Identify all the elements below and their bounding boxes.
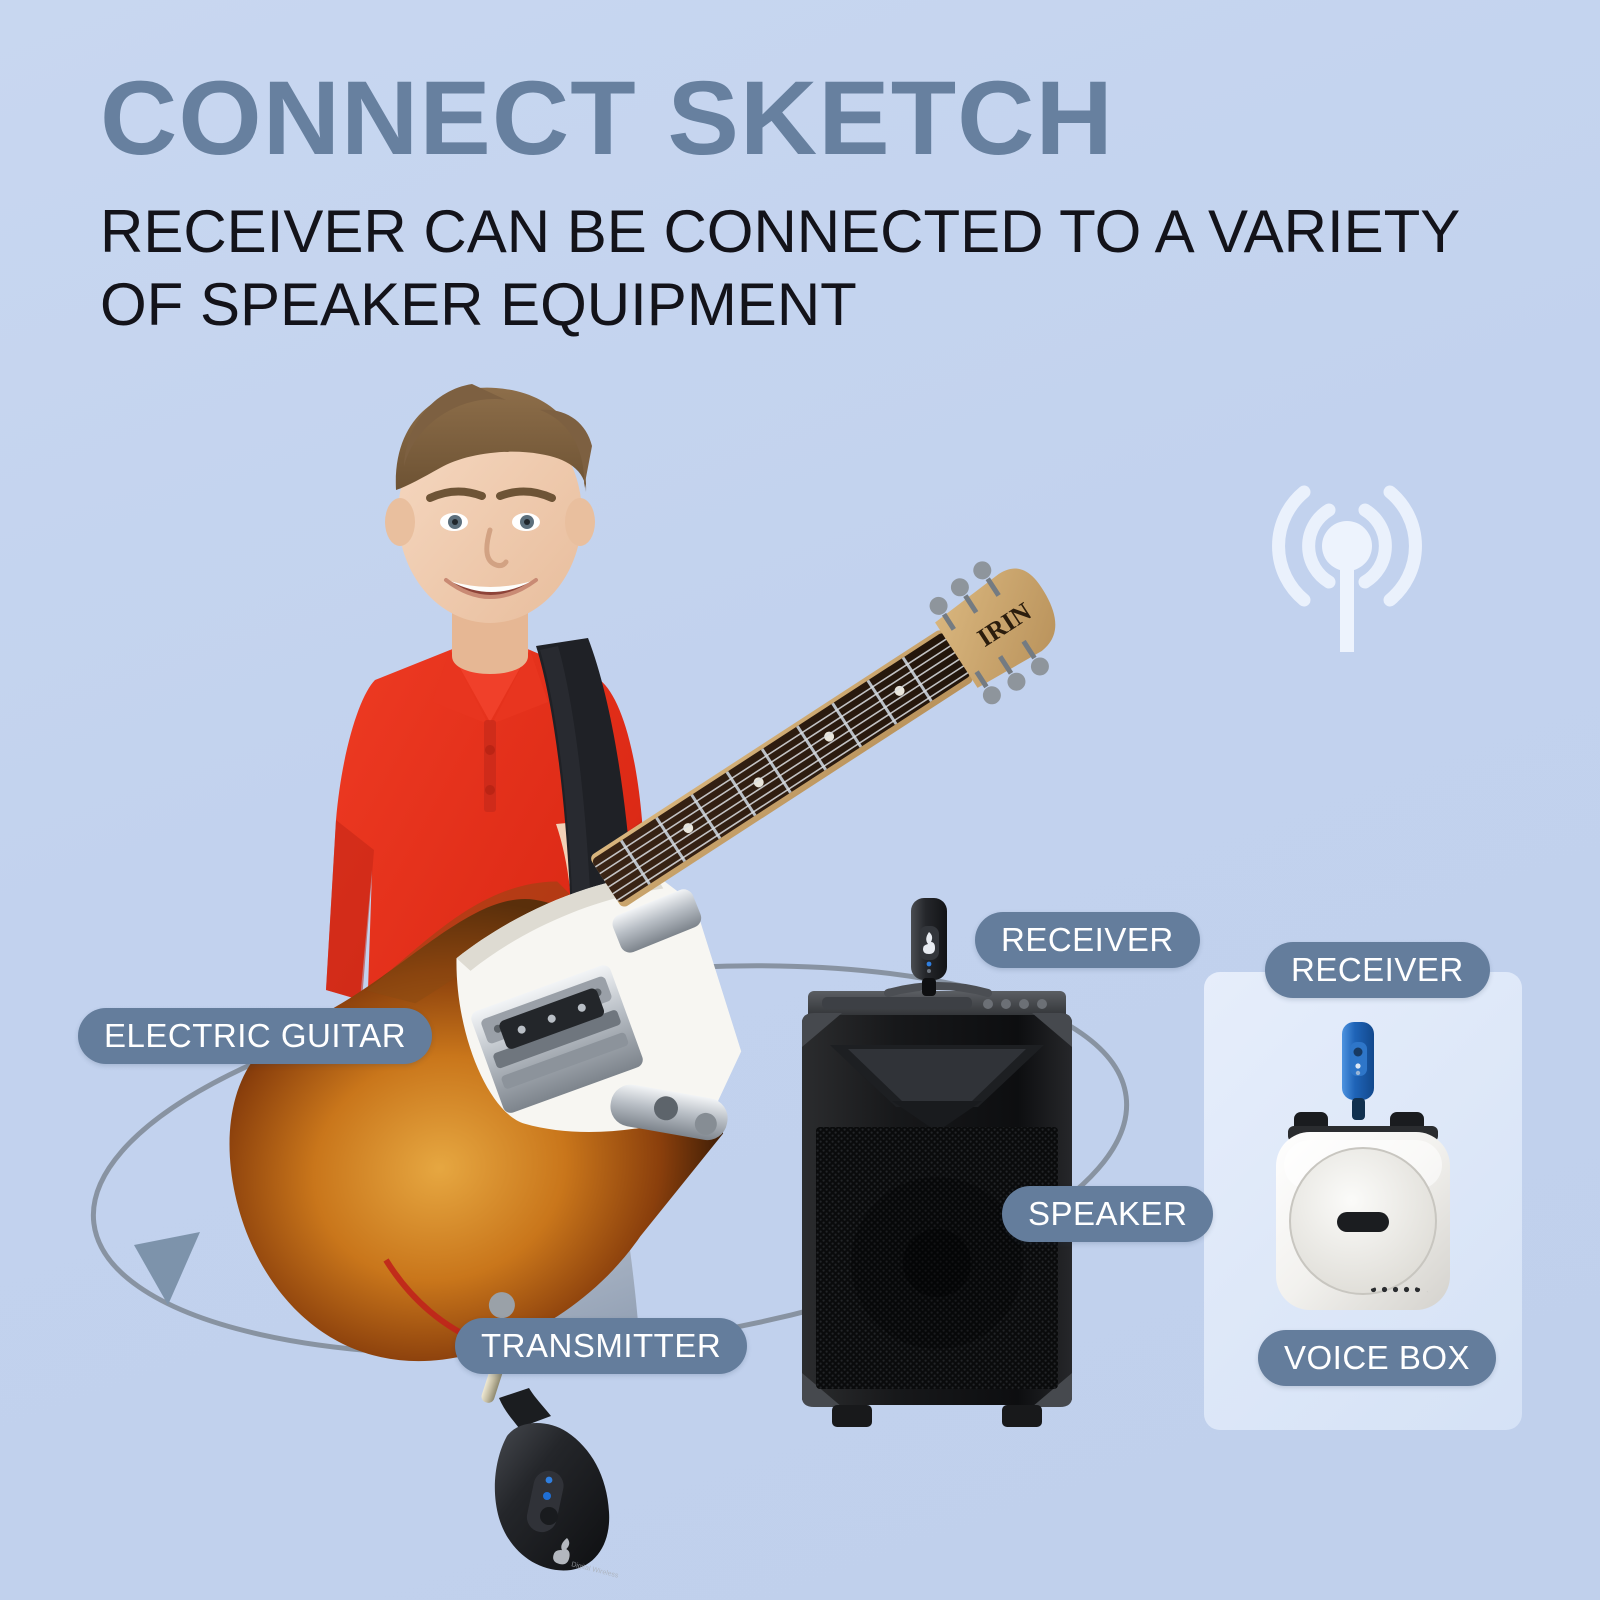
wireless-transmitter: Digital Wireless	[455, 1340, 635, 1600]
label-receiver-voicebox[interactable]: RECEIVER	[1265, 942, 1490, 998]
voice-box-amplifier	[1258, 1020, 1468, 1330]
page-title: CONNECT SKETCH	[100, 66, 1114, 171]
broadcast-signal-icon	[1232, 452, 1462, 652]
label-speaker-text: SPEAKER	[1028, 1195, 1187, 1233]
receiver-dongle-voicebox	[1342, 1022, 1374, 1120]
transmitter-caption: Digital Wireless	[571, 1561, 620, 1580]
label-electric-guitar-text: ELECTRIC GUITAR	[104, 1017, 406, 1055]
page-subtitle: RECEIVER CAN BE CONNECTED TO A VARIETY O…	[100, 195, 1520, 341]
infographic-canvas: CONNECT SKETCH RECEIVER CAN BE CONNECTED…	[0, 0, 1600, 1600]
label-speaker[interactable]: SPEAKER	[1002, 1186, 1213, 1242]
label-electric-guitar[interactable]: ELECTRIC GUITAR	[78, 1008, 432, 1064]
receiver-dongle-speaker	[905, 898, 953, 1003]
label-transmitter-text: TRANSMITTER	[481, 1327, 721, 1365]
label-receiver-speaker[interactable]: RECEIVER	[975, 912, 1200, 968]
label-transmitter[interactable]: TRANSMITTER	[455, 1318, 747, 1374]
label-receiver-speaker-text: RECEIVER	[1001, 921, 1174, 959]
label-receiver-voicebox-text: RECEIVER	[1291, 951, 1464, 989]
label-voice-box[interactable]: VOICE BOX	[1258, 1330, 1496, 1386]
label-voice-box-text: VOICE BOX	[1284, 1339, 1470, 1377]
